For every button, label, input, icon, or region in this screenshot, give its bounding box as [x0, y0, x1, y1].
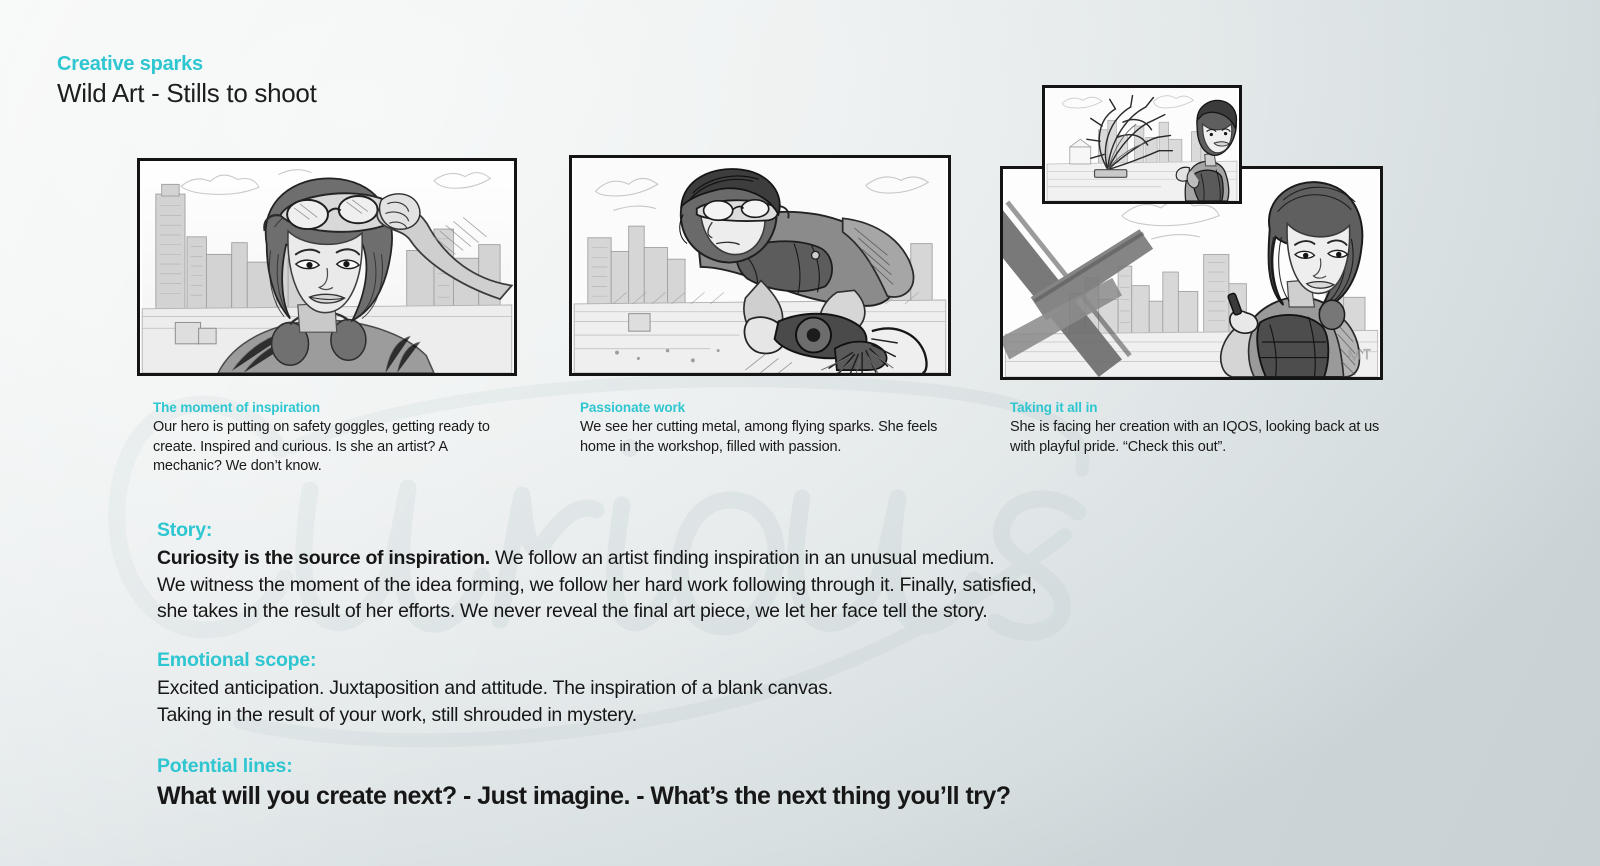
- panel-caption-2: Passionate work We see her cutting metal…: [580, 400, 940, 457]
- section-story: Story: Curiosity is the source of inspir…: [157, 519, 1357, 624]
- section-heading-lines: Potential lines:: [157, 755, 1357, 778]
- caption-body-2: We see her cutting metal, among flying s…: [580, 418, 940, 457]
- eyebrow-label: Creative sparks: [57, 53, 317, 75]
- caption-title-1: The moment of inspiration: [153, 400, 513, 416]
- sketch-woman-grinding-metal: [572, 158, 948, 373]
- section-heading-story: Story:: [157, 519, 1357, 542]
- section-heading-emotional: Emotional scope:: [157, 649, 1257, 672]
- sketch-woman-goggles: [140, 161, 514, 373]
- slide-canvas: Creative sparks Wild Art - Stills to sho…: [0, 0, 1600, 866]
- slide-header: Creative sparks Wild Art - Stills to sho…: [57, 53, 317, 109]
- section-body-lines: What will you create next? - Just imagin…: [157, 781, 1357, 811]
- panel-caption-1: The moment of inspiration Our hero is pu…: [153, 400, 513, 476]
- section-body-emotional: Excited anticipation. Juxtaposition and …: [157, 675, 1257, 727]
- sketch-sculpture-reveal: [1045, 88, 1239, 201]
- storyboard-panel-2[interactable]: [569, 155, 951, 376]
- page-title: Wild Art - Stills to shoot: [57, 79, 317, 109]
- caption-body-1: Our hero is putting on safety goggles, g…: [153, 418, 513, 476]
- section-potential-lines: Potential lines: What will you create ne…: [157, 755, 1357, 811]
- panel-caption-3: Taking it all in She is facing her creat…: [1010, 400, 1382, 457]
- storyboard-panel-1[interactable]: [137, 158, 517, 376]
- caption-title-3: Taking it all in: [1010, 400, 1382, 416]
- storyboard-panel-3-inset[interactable]: [1042, 85, 1242, 204]
- caption-title-2: Passionate work: [580, 400, 940, 416]
- section-emotional-scope: Emotional scope: Excited anticipation. J…: [157, 649, 1257, 728]
- story-lead: Curiosity is the source of inspiration.: [157, 547, 490, 569]
- caption-body-3: She is facing her creation with an IQOS,…: [1010, 418, 1382, 457]
- section-body-story: Curiosity is the source of inspiration. …: [157, 545, 1357, 623]
